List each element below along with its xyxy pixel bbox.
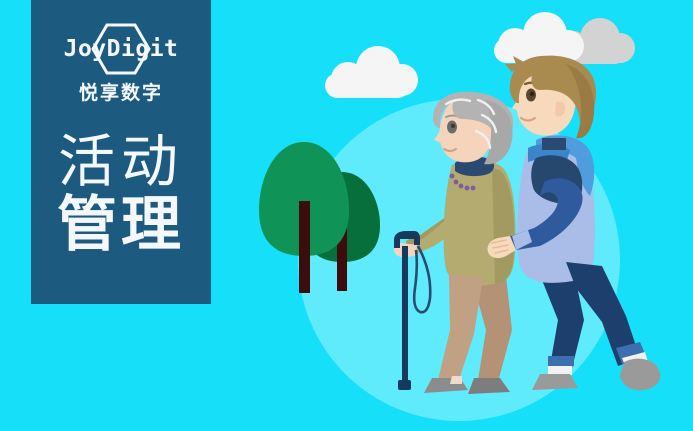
elder-near-shoe-top	[450, 376, 462, 384]
page-title-line-2: 管理	[57, 194, 185, 256]
brand-logo: JoyDigit	[46, 26, 196, 72]
man-far-shoe	[532, 374, 578, 390]
tree-trunk-front	[299, 201, 310, 293]
cane-tip	[398, 380, 411, 390]
man-far-sock	[548, 366, 572, 375]
man-near-shoe	[620, 359, 660, 391]
page-title: 活动 管理	[57, 133, 185, 257]
page-title-line-1: 活动	[57, 133, 185, 192]
logo-wordmark: JoyDigit	[64, 36, 179, 62]
logo-subtitle-cn: 悦享数字	[79, 78, 163, 105]
cloud-right-front	[494, 12, 584, 63]
title-panel: JoyDigit 悦享数字 活动 管理	[31, 0, 211, 304]
man-far-cuff	[548, 356, 574, 366]
cloud-left	[325, 46, 418, 98]
man-collar	[542, 138, 566, 150]
poster-canvas: JoyDigit 悦享数字 活动 管理	[0, 0, 693, 431]
